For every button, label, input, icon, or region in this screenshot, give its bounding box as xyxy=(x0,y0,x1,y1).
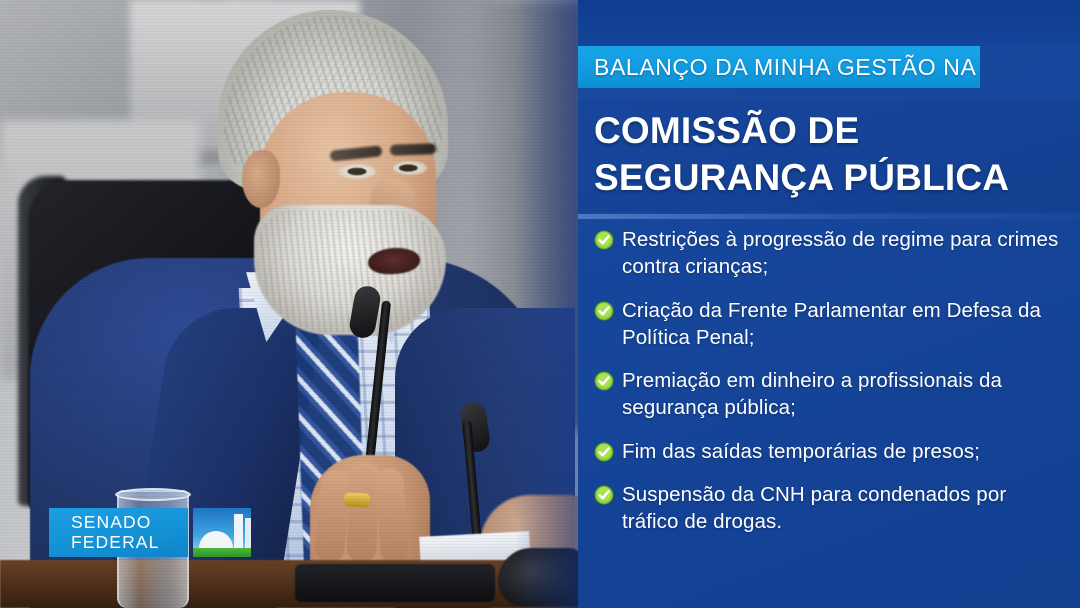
logo-wordmark: SENADO FEDERAL xyxy=(49,508,188,557)
check-circle-icon xyxy=(594,230,614,250)
desk-object xyxy=(295,564,495,602)
list-item-text: Restrições à progressão de regime para c… xyxy=(622,226,1068,281)
list-item-text: Fim das saídas temporárias de presos; xyxy=(622,438,980,465)
list-item-text: Suspensão da CNH para condenados por trá… xyxy=(622,481,1068,536)
emblem-grass xyxy=(193,548,251,557)
list-item: Premiação em dinheiro a profissionais da… xyxy=(594,367,1068,422)
title-line-2: SEGURANÇA PÚBLICA xyxy=(594,155,1060,202)
head xyxy=(218,10,448,310)
section-divider xyxy=(578,214,1080,219)
list-item-text: Criação da Frente Parlamentar em Defesa … xyxy=(622,297,1068,352)
emblem-dome xyxy=(199,531,233,548)
water-glass-rim xyxy=(115,488,191,501)
achievements-list: Restrições à progressão de regime para c… xyxy=(578,226,1080,566)
title-block: COMISSÃO DE SEGURANÇA PÚBLICA xyxy=(578,100,1080,212)
check-circle-icon xyxy=(594,301,614,321)
info-panel: BALANÇO DA MINHA GESTÃO NA COMISSÃO DE S… xyxy=(578,0,1080,608)
eyebrow-right xyxy=(390,143,436,156)
eye-left xyxy=(338,164,376,179)
logo-line-1: SENADO xyxy=(71,513,188,533)
ear xyxy=(242,150,280,208)
list-item-text: Premiação em dinheiro a profissionais da… xyxy=(622,367,1068,422)
check-circle-icon xyxy=(594,485,614,505)
list-item: Fim das saídas temporárias de presos; xyxy=(594,438,1068,465)
senado-federal-logo: SENADO FEDERAL xyxy=(49,508,251,557)
eye-right xyxy=(393,161,427,175)
finger xyxy=(346,462,379,563)
gold-ring xyxy=(344,492,371,507)
kicker-text: BALANÇO DA MINHA GESTÃO NA xyxy=(594,54,976,81)
emblem-tower-secondary xyxy=(245,518,251,548)
logo-line-2: FEDERAL xyxy=(71,533,188,553)
list-item: Suspensão da CNH para condenados por trá… xyxy=(594,481,1068,536)
list-item: Criação da Frente Parlamentar em Defesa … xyxy=(594,297,1068,352)
title-line-1: COMISSÃO DE xyxy=(594,108,1060,155)
check-circle-icon xyxy=(594,442,614,462)
congress-building-icon xyxy=(193,508,251,557)
kicker-banner: BALANÇO DA MINHA GESTÃO NA xyxy=(578,46,980,88)
beard-texture xyxy=(258,210,442,332)
list-item: Restrições à progressão de regime para c… xyxy=(594,226,1068,281)
emblem-tower xyxy=(234,514,243,548)
headset xyxy=(498,548,584,606)
panel-top-strip xyxy=(578,0,1080,46)
broadcast-graphic: BALANÇO DA MINHA GESTÃO NA COMISSÃO DE S… xyxy=(0,0,1080,608)
check-circle-icon xyxy=(594,371,614,391)
